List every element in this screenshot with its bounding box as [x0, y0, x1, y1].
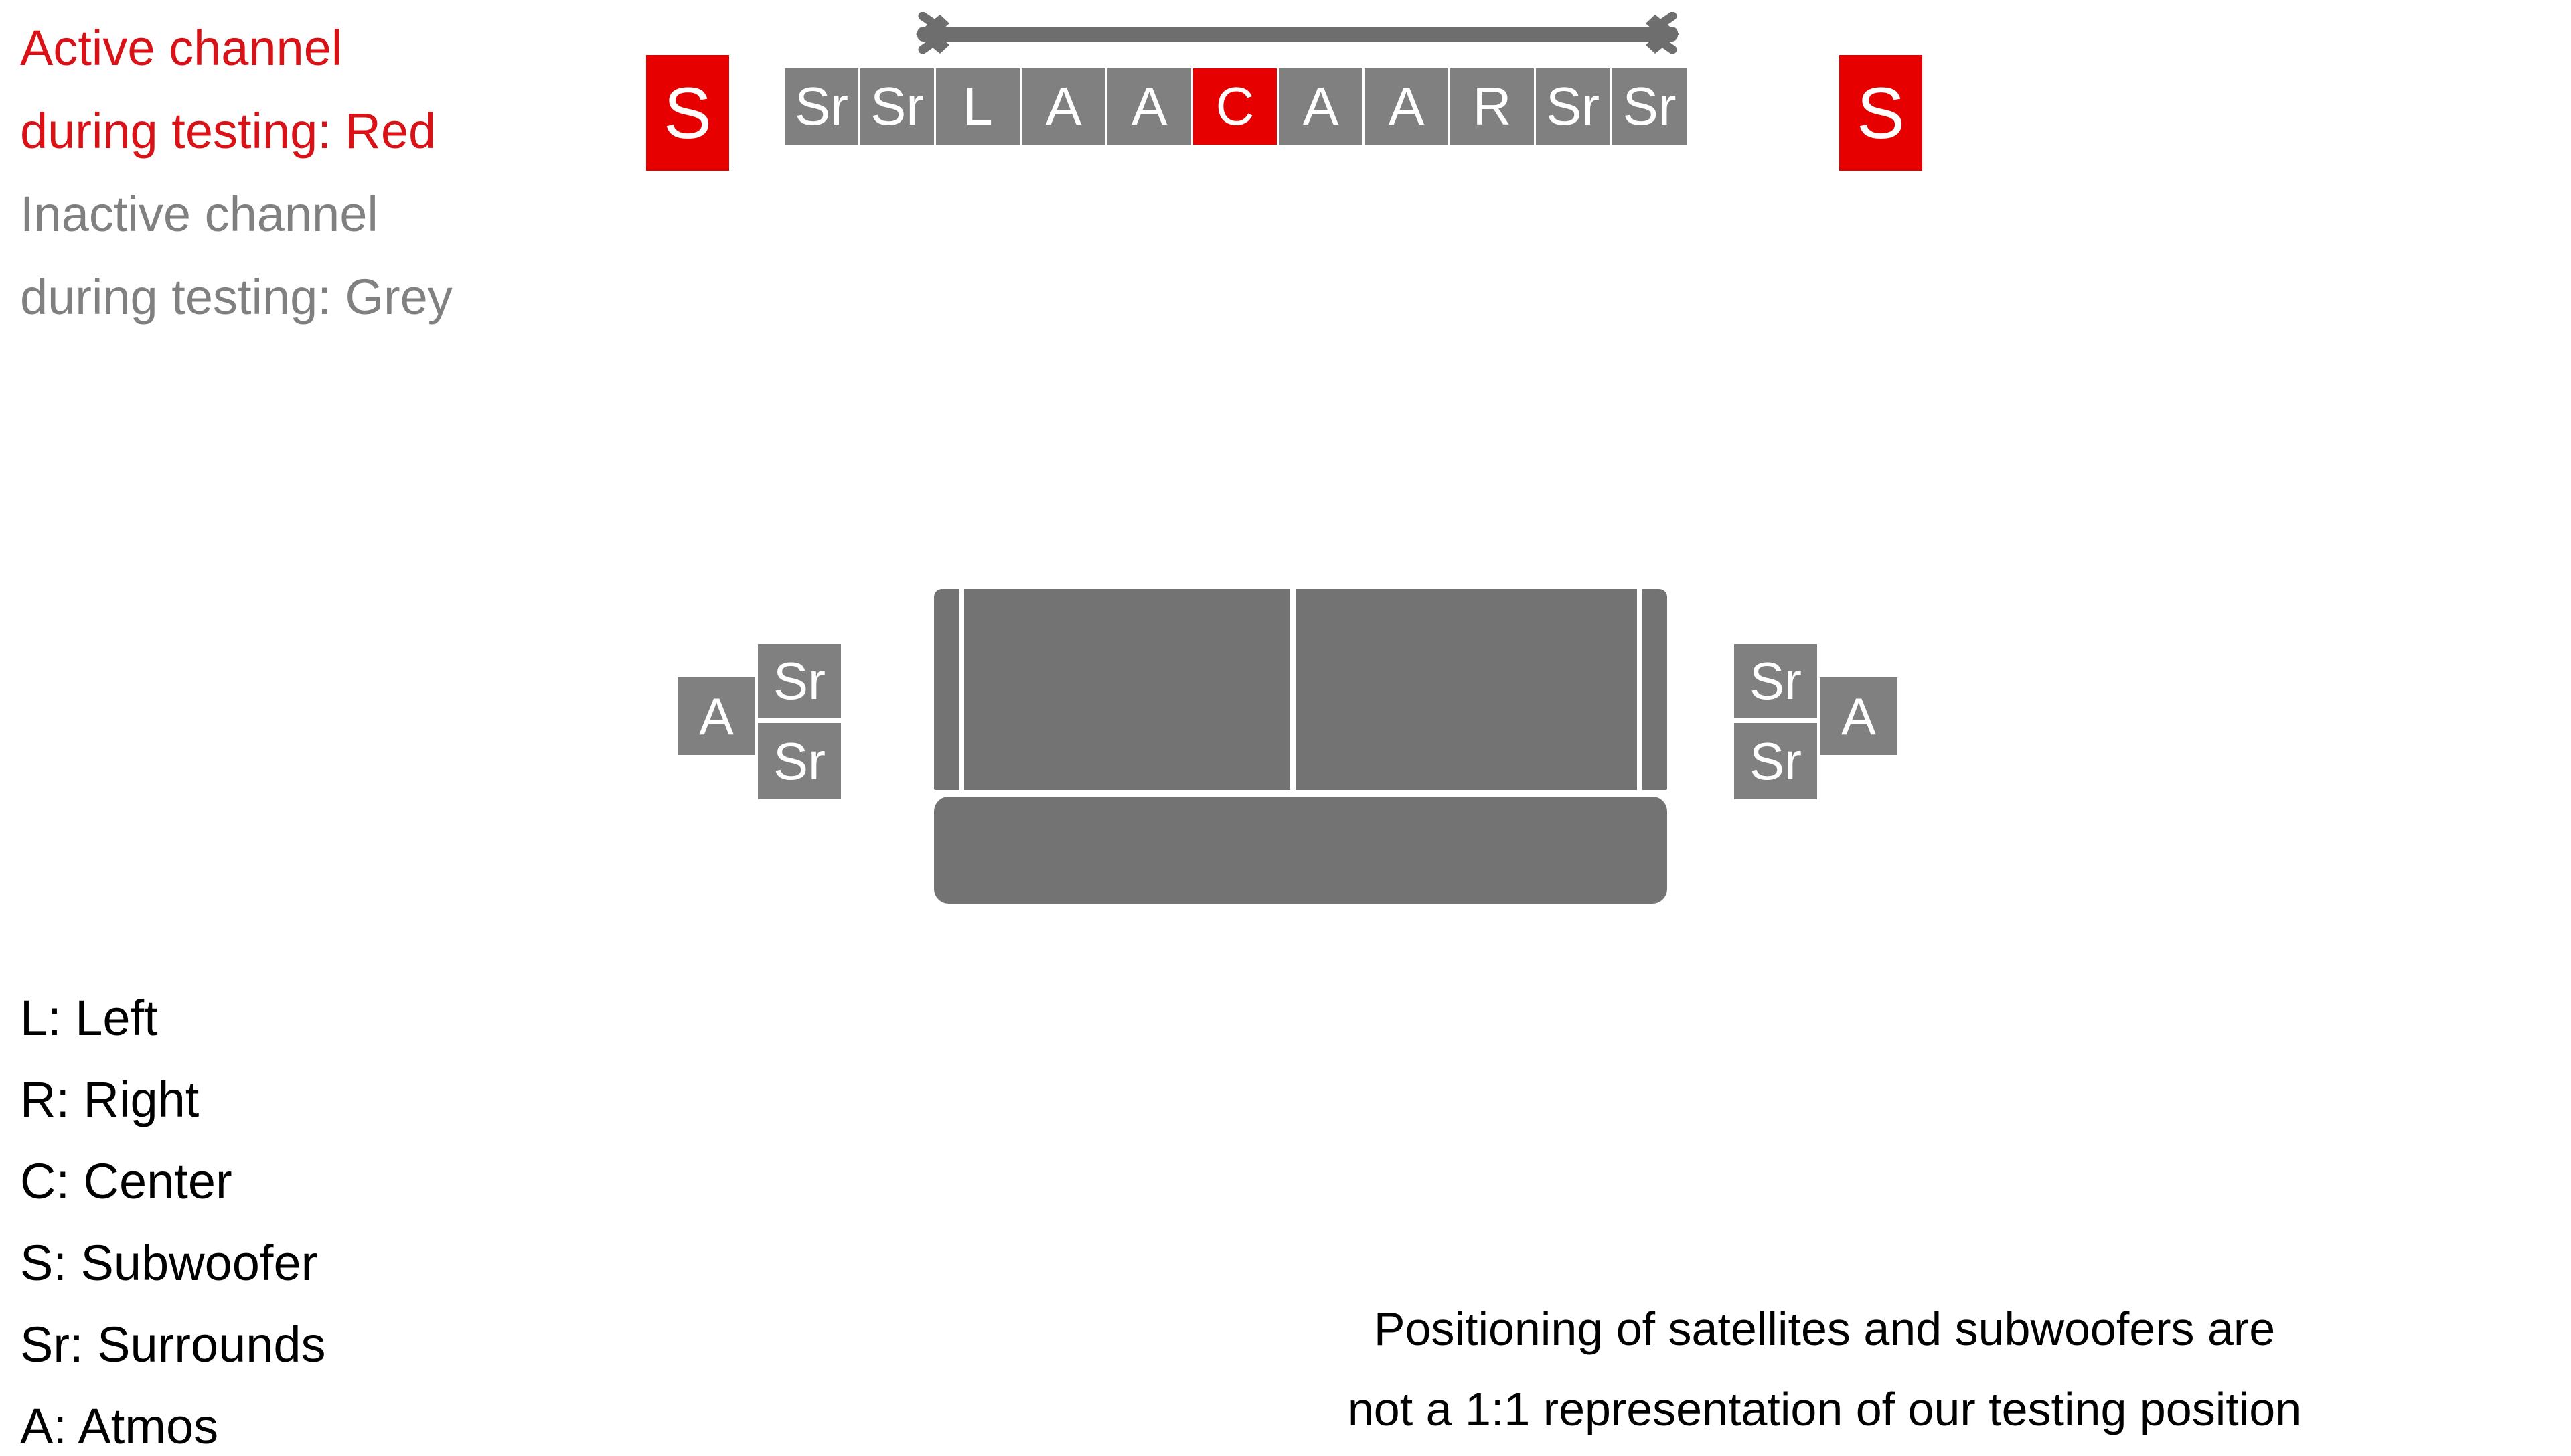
- soundbar-cell-sr-l1: Sr: [785, 68, 860, 145]
- soundbar-cell-sr-r1: Sr: [1536, 68, 1612, 145]
- abbrev-atmos: A: Atmos: [20, 1386, 824, 1456]
- soundbar-cell-right: R: [1450, 68, 1536, 145]
- satellite-atmos-left: A: [678, 677, 755, 755]
- listening-room: A Sr Sr Sr Sr A: [0, 589, 2571, 931]
- couch: [934, 589, 1667, 904]
- subwoofer-left: S: [646, 55, 729, 171]
- couch-seat-base: [934, 797, 1667, 904]
- abbrev-left: L: Left: [20, 977, 824, 1059]
- diagram-caption: Positioning of satellites and subwoofers…: [1085, 1289, 2564, 1449]
- couch-armrest-left: [934, 589, 959, 790]
- speaker-layout-diagram: Active channel during testing: Red Inact…: [0, 0, 2571, 1456]
- couch-armrest-right: [1642, 589, 1667, 790]
- soundbar: Sr Sr L A A C A A R Sr Sr: [785, 68, 1687, 145]
- key-inactive-line-2: during testing: Grey: [20, 256, 623, 339]
- soundbar-cell-sr-l2: Sr: [860, 68, 936, 145]
- abbrev-center: C: Center: [20, 1141, 824, 1222]
- soundbar-cell-atmos-l1: A: [1022, 68, 1107, 145]
- soundbar-cell-atmos-l2: A: [1107, 68, 1193, 145]
- soundbar-cell-left: L: [936, 68, 1022, 145]
- soundbar-cell-sr-r2: Sr: [1612, 68, 1687, 145]
- satellite-surround-left-lower: Sr: [758, 723, 841, 799]
- soundbar-row: S Sr Sr L A A C A A: [0, 0, 2571, 201]
- satellite-atmos-right: A: [1820, 677, 1897, 755]
- subwoofer-right: S: [1839, 55, 1922, 171]
- abbrev-right: R: Right: [20, 1059, 824, 1141]
- soundbar-cell-center: C: [1193, 68, 1279, 145]
- abbreviation-legend: L: Left R: Right C: Center S: Subwoofer …: [20, 977, 824, 1456]
- satellite-surround-right-upper: Sr: [1734, 644, 1817, 720]
- satellite-surround-right-lower: Sr: [1734, 723, 1817, 799]
- soundbar-cell-atmos-r2: A: [1365, 68, 1450, 145]
- satellite-surround-left-upper: Sr: [758, 644, 841, 720]
- caption-line-1: Positioning of satellites and subwoofers…: [1085, 1289, 2564, 1369]
- caption-line-2: not a 1:1 representation of our testing …: [1085, 1369, 2564, 1449]
- couch-backrest-left: [964, 589, 1290, 790]
- abbrev-subwoofer: S: Subwoofer: [20, 1222, 824, 1304]
- couch-backrest-right: [1296, 589, 1637, 790]
- soundbar-cell-atmos-r1: A: [1279, 68, 1365, 145]
- abbrev-surrounds: Sr: Surrounds: [20, 1304, 824, 1386]
- soundbar-span-arrow-icon: [903, 12, 1693, 54]
